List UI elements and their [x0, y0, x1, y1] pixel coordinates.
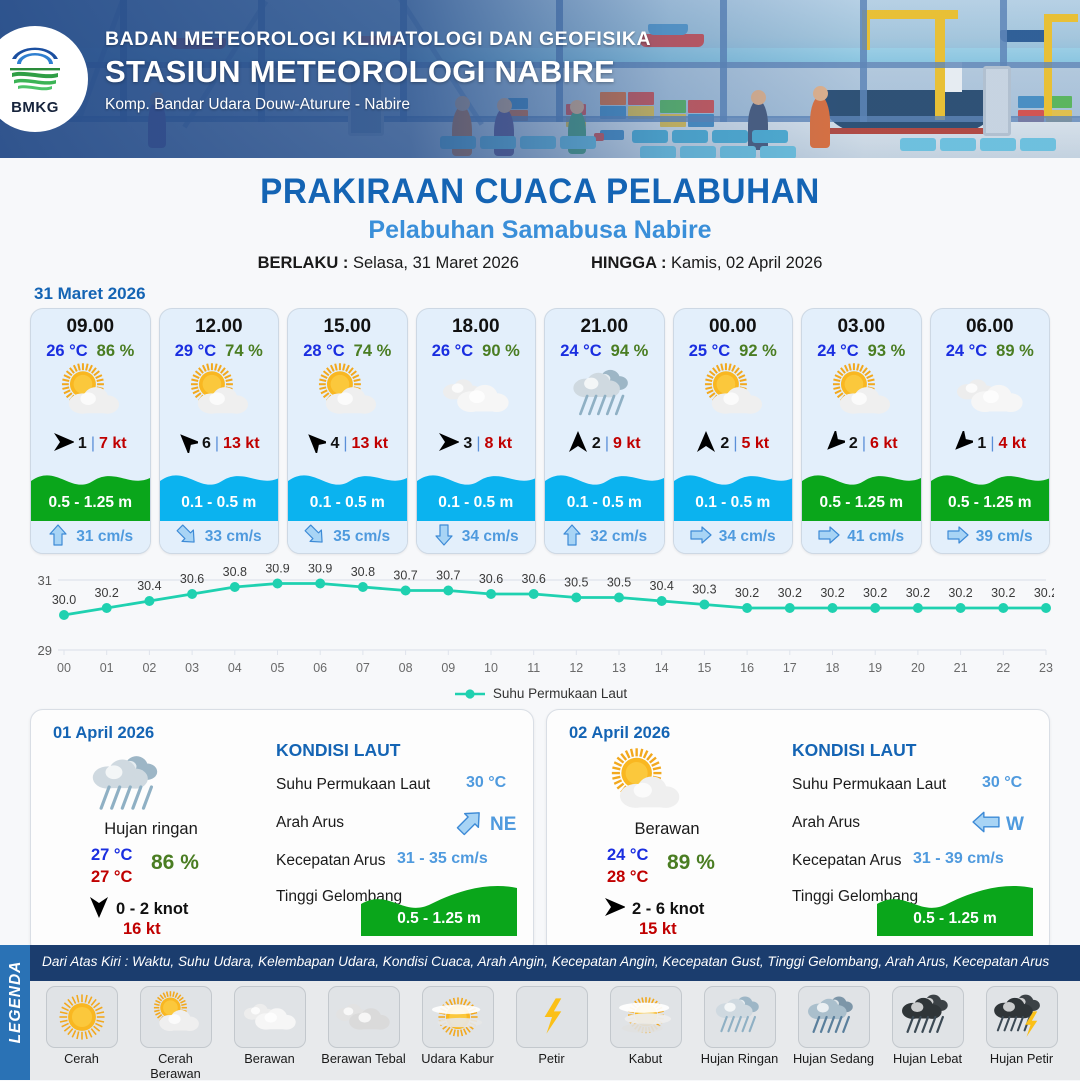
hourly-card: 09.00 26 °C 86 % 1 | 7 kt 0.5 - 1.25 m	[30, 308, 151, 554]
page-title: PRAKIRAAN CUACA PELABUHAN	[27, 172, 1053, 212]
hujan-ringan-icon	[545, 363, 664, 429]
legend-item-caption: Cerah Berawan	[132, 1051, 219, 1081]
daily-humidity: 86 %	[151, 851, 199, 875]
card-wind-speed: 1	[78, 435, 87, 453]
berawan-icon	[417, 363, 536, 429]
legend-item-caption: Udara Kabur	[414, 1051, 501, 1066]
berlaku-label: BERLAKU :	[258, 254, 349, 272]
card-gust-speed: 13 kt	[223, 435, 259, 453]
card-wind-separator: |	[215, 435, 219, 453]
card-temp-humidity: 29 °C 74 %	[160, 342, 279, 361]
card-current-row: 35 cm/s	[288, 521, 407, 553]
wind-direction-arrow-icon	[953, 431, 973, 458]
daily-wave-band: 0.5 - 1.25 m	[877, 878, 1033, 936]
daily-wave-height: 0.5 - 1.25 m	[361, 910, 517, 928]
svg-text:30.2: 30.2	[735, 586, 759, 600]
wind-direction-arrow-icon	[178, 431, 198, 458]
card-temperature: 24 °C	[560, 342, 601, 361]
card-current-row: 32 cm/s	[545, 521, 664, 553]
svg-text:30.2: 30.2	[991, 586, 1015, 600]
legend-item-caption: Hujan Petir	[978, 1051, 1065, 1066]
svg-text:04: 04	[228, 661, 242, 675]
sea-row-label: Arah Arus	[276, 814, 344, 832]
card-wind-row: 4 | 13 kt	[288, 429, 407, 459]
card-current-speed: 34 cm/s	[719, 528, 776, 546]
card-temperature: 25 °C	[689, 342, 730, 361]
hingga-label: HINGGA :	[591, 254, 666, 272]
current-direction-arrow-icon	[972, 808, 1000, 841]
card-temperature: 24 °C	[946, 342, 987, 361]
wind-direction-arrow-icon	[568, 431, 588, 458]
chart-legend: Suhu Permukaan Laut	[0, 686, 1080, 701]
station-name: STASIUN METEOROLOGI NABIRE	[105, 54, 651, 90]
berawan-tebal-icon	[328, 986, 400, 1048]
card-gust-speed: 7 kt	[99, 435, 127, 453]
svg-text:30.8: 30.8	[351, 565, 375, 579]
card-time: 09.00	[31, 309, 150, 338]
daily-wind-range: 2 - 6 knot	[632, 900, 704, 919]
daily-gust: 16 kt	[123, 920, 161, 939]
daily-date: 01 April 2026	[53, 724, 154, 743]
hujan-sedang-icon	[798, 986, 870, 1048]
svg-text:30.2: 30.2	[820, 586, 844, 600]
sea-surface-temp-value: 30 °C	[466, 774, 506, 792]
sea-row-label: Suhu Permukaan Laut	[276, 776, 430, 794]
card-wave-height: 0.1 - 0.5 m	[160, 494, 279, 512]
card-current-speed: 39 cm/s	[976, 528, 1033, 546]
cerah-berawan-icon	[31, 363, 150, 429]
svg-text:30.2: 30.2	[778, 586, 802, 600]
daily-wave-height: 0.5 - 1.25 m	[877, 910, 1033, 928]
card-wind-row: 2 | 5 kt	[674, 429, 793, 459]
svg-text:30.4: 30.4	[137, 579, 161, 593]
svg-text:15: 15	[697, 661, 711, 675]
legend-item-caption: Berawan Tebal	[320, 1051, 407, 1066]
card-time: 00.00	[674, 309, 793, 338]
current-direction-value: NE	[490, 814, 516, 836]
wind-direction-arrow-icon	[89, 896, 109, 923]
card-wind-speed: 3	[463, 435, 472, 453]
legend-side-bar: LEGENDA	[0, 945, 30, 1080]
udara-kabur-icon	[422, 986, 494, 1048]
legend-item: Hujan Sedang	[790, 986, 877, 1066]
berawan-icon	[234, 986, 306, 1048]
card-gust-speed: 4 kt	[998, 435, 1026, 453]
svg-text:21: 21	[954, 661, 968, 675]
daily-temp-min: 24 °C	[607, 846, 648, 865]
svg-text:30.5: 30.5	[607, 576, 631, 590]
svg-text:30.6: 30.6	[180, 572, 204, 586]
card-wave-band: 0.5 - 1.25 m	[931, 459, 1050, 521]
card-wave-height: 0.5 - 1.25 m	[802, 494, 921, 512]
daily-date: 02 April 2026	[569, 724, 670, 743]
card-temp-humidity: 26 °C 86 %	[31, 342, 150, 361]
card-wave-height: 0.1 - 0.5 m	[545, 494, 664, 512]
berlaku-group: BERLAKU : Selasa, 31 Maret 2026	[258, 254, 519, 273]
svg-text:30.2: 30.2	[1034, 586, 1054, 600]
daily-humidity: 89 %	[667, 851, 715, 875]
card-time: 03.00	[802, 309, 921, 338]
card-time: 12.00	[160, 309, 279, 338]
legend-item: Kabut	[602, 986, 689, 1066]
svg-text:30.2: 30.2	[95, 586, 119, 600]
page-header: BMKG BADAN METEOROLOGI KLIMATOLOGI DAN G…	[0, 0, 1080, 158]
card-humidity: 90 %	[482, 342, 520, 361]
svg-text:05: 05	[271, 661, 285, 675]
wind-direction-arrow-icon	[54, 431, 74, 458]
current-direction-arrow-icon	[456, 808, 484, 841]
sea-row-label: Arah Arus	[792, 814, 860, 832]
bmkg-logo-text: BMKG	[11, 99, 59, 116]
legend-section: LEGENDA Dari Atas Kiri : Waktu, Suhu Uda…	[0, 945, 1080, 1080]
legend-side-label: LEGENDA	[7, 952, 25, 1052]
card-gust-speed: 6 kt	[870, 435, 898, 453]
forecast-title-block: PRAKIRAAN CUACA PELABUHAN Pelabuhan Sama…	[0, 158, 1080, 273]
card-wave-height: 0.1 - 0.5 m	[674, 494, 793, 512]
card-wind-separator: |	[862, 435, 866, 453]
card-humidity: 74 %	[354, 342, 392, 361]
daily-forecast-card: 02 April 2026 Berawan 24 °C 28 °C 89 % 2…	[546, 709, 1050, 955]
daily-forecast-card: 01 April 2026 Hujan ringan 27 °C 27 °C 8…	[30, 709, 534, 955]
legend-item-caption: Cerah	[38, 1051, 125, 1066]
card-wind-separator: |	[476, 435, 480, 453]
card-time: 15.00	[288, 309, 407, 338]
sea-conditions-title: KONDISI LAUT	[276, 740, 400, 761]
sea-row-label: Kecepatan Arus	[792, 852, 901, 870]
svg-text:14: 14	[655, 661, 669, 675]
svg-text:11: 11	[527, 661, 540, 675]
card-wind-separator: |	[605, 435, 609, 453]
svg-text:30.7: 30.7	[436, 569, 460, 583]
page-subtitle: Pelabuhan Samabusa Nabire	[0, 216, 1080, 245]
svg-text:13: 13	[612, 661, 626, 675]
hourly-card: 18.00 26 °C 90 % 3 | 8 kt 0	[416, 308, 537, 554]
legend-item: Berawan	[226, 986, 313, 1066]
svg-text:30.9: 30.9	[265, 564, 289, 576]
card-wind-speed: 4	[330, 435, 339, 453]
legend-item: Cerah Berawan	[132, 986, 219, 1081]
card-humidity: 89 %	[996, 342, 1034, 361]
card-temp-humidity: 26 °C 90 %	[417, 342, 536, 361]
card-wind-row: 2 | 6 kt	[802, 429, 921, 459]
card-wave-band: 0.1 - 0.5 m	[545, 459, 664, 521]
svg-text:22: 22	[996, 661, 1010, 675]
svg-text:16: 16	[740, 661, 754, 675]
svg-text:30.4: 30.4	[650, 579, 674, 593]
current-direction-group: W	[972, 808, 1024, 841]
legend-note-bar: Dari Atas Kiri : Waktu, Suhu Udara, Kele…	[30, 945, 1080, 981]
svg-text:30.5: 30.5	[564, 576, 588, 590]
card-current-speed: 34 cm/s	[462, 528, 519, 546]
card-time: 06.00	[931, 309, 1050, 338]
card-temp-humidity: 24 °C 89 %	[931, 342, 1050, 361]
daily-condition: Berawan	[547, 820, 787, 839]
card-wave-band: 0.5 - 1.25 m	[802, 459, 921, 521]
hourly-card: 15.00 28 °C 74 % 4 | 13 kt 0.1 - 0.5 m	[287, 308, 408, 554]
card-temp-humidity: 25 °C 92 %	[674, 342, 793, 361]
svg-text:29: 29	[38, 643, 52, 658]
wind-direction-arrow-icon	[306, 431, 326, 458]
card-wind-row: 2 | 9 kt	[545, 429, 664, 459]
card-wave-band: 0.1 - 0.5 m	[160, 459, 279, 521]
card-wave-band: 0.1 - 0.5 m	[417, 459, 536, 521]
card-temperature: 26 °C	[432, 342, 473, 361]
kabut-icon	[610, 986, 682, 1048]
legend-note: Dari Atas Kiri : Waktu, Suhu Udara, Kele…	[30, 945, 1080, 969]
card-gust-speed: 8 kt	[484, 435, 512, 453]
hingga-group: HINGGA : Kamis, 02 April 2026	[591, 254, 822, 273]
card-temperature: 26 °C	[46, 342, 87, 361]
legend-item: Hujan Petir	[978, 986, 1065, 1066]
current-direction-arrow-icon	[176, 524, 198, 551]
daily-wind-row: 2 - 6 knot	[605, 896, 704, 923]
svg-text:01: 01	[100, 661, 114, 675]
card-wave-height: 0.5 - 1.25 m	[31, 494, 150, 512]
wind-direction-arrow-icon	[825, 431, 845, 458]
card-wave-band: 0.1 - 0.5 m	[674, 459, 793, 521]
hourly-forecast-row: 09.00 26 °C 86 % 1 | 7 kt 0.5 - 1.25 m	[0, 308, 1080, 554]
svg-text:20: 20	[911, 661, 925, 675]
agency-name: BADAN METEOROLOGI KLIMATOLOGI DAN GEOFIS…	[105, 28, 651, 51]
legend-item-caption: Berawan	[226, 1051, 313, 1066]
cerah-berawan-icon	[802, 363, 921, 429]
card-current-speed: 31 cm/s	[76, 528, 133, 546]
chart-legend-label: Suhu Permukaan Laut	[493, 686, 627, 701]
daily-gust: 15 kt	[639, 920, 677, 939]
card-wave-height: 0.5 - 1.25 m	[931, 494, 1050, 512]
card-wind-separator: |	[733, 435, 737, 453]
card-humidity: 92 %	[739, 342, 777, 361]
legend-item: Cerah	[38, 986, 125, 1066]
hourly-card: 00.00 25 °C 92 % 2 | 5 kt 0.1 - 0.5 m	[673, 308, 794, 554]
card-current-row: 34 cm/s	[674, 521, 793, 553]
card-wave-band: 0.5 - 1.25 m	[31, 459, 150, 521]
svg-text:30.2: 30.2	[948, 586, 972, 600]
station-address: Komp. Bandar Udara Douw-Aturure - Nabire	[105, 96, 651, 114]
svg-text:09: 09	[441, 661, 455, 675]
daily-wind-row: 0 - 2 knot	[89, 896, 188, 923]
card-wind-speed: 2	[720, 435, 729, 453]
legend-item-caption: Hujan Sedang	[790, 1051, 877, 1066]
legend-item: Berawan Tebal	[320, 986, 407, 1066]
svg-text:30.6: 30.6	[479, 572, 503, 586]
card-wind-separator: |	[343, 435, 347, 453]
hourly-card: 06.00 24 °C 89 % 1 | 4 kt 0	[930, 308, 1051, 554]
wind-direction-arrow-icon	[696, 431, 716, 458]
card-temp-humidity: 24 °C 93 %	[802, 342, 921, 361]
sea-row-label: Suhu Permukaan Laut	[792, 776, 946, 794]
card-gust-speed: 13 kt	[352, 435, 388, 453]
hujan-ringan-icon	[704, 986, 776, 1048]
current-direction-value: W	[1006, 814, 1024, 836]
card-current-speed: 35 cm/s	[333, 528, 390, 546]
card-humidity: 93 %	[868, 342, 906, 361]
svg-text:30.0: 30.0	[52, 593, 76, 607]
current-direction-arrow-icon	[818, 524, 840, 551]
cerah-berawan-icon	[599, 748, 691, 831]
svg-text:30.6: 30.6	[522, 572, 546, 586]
svg-text:19: 19	[868, 661, 882, 675]
daily-wave-band: 0.5 - 1.25 m	[361, 878, 517, 936]
chart-legend-marker	[453, 688, 487, 700]
card-temperature: 28 °C	[303, 342, 344, 361]
current-direction-arrow-icon	[947, 524, 969, 551]
current-direction-arrow-icon	[561, 524, 583, 551]
current-direction-arrow-icon	[690, 524, 712, 551]
card-wave-height: 0.1 - 0.5 m	[417, 494, 536, 512]
card-wind-row: 3 | 8 kt	[417, 429, 536, 459]
sea-conditions-title: KONDISI LAUT	[792, 740, 916, 761]
cerah-berawan-icon	[674, 363, 793, 429]
card-current-row: 34 cm/s	[417, 521, 536, 553]
hourly-card: 21.00 24 °C 94 % 2 | 9 kt 0	[544, 308, 665, 554]
cerah-berawan-icon	[160, 363, 279, 429]
card-temp-humidity: 28 °C 74 %	[288, 342, 407, 361]
hourly-card: 03.00 24 °C 93 % 2 | 6 kt 0.5 - 1.25 m	[801, 308, 922, 554]
card-wind-row: 1 | 7 kt	[31, 429, 150, 459]
card-gust-speed: 5 kt	[741, 435, 769, 453]
sea-row-label: Kecepatan Arus	[276, 852, 385, 870]
current-direction-arrow-icon	[433, 524, 455, 551]
legend-item-caption: Hujan Ringan	[696, 1051, 783, 1066]
svg-text:17: 17	[783, 661, 797, 675]
svg-text:08: 08	[399, 661, 413, 675]
card-wind-speed: 2	[592, 435, 601, 453]
card-current-speed: 32 cm/s	[590, 528, 647, 546]
cerah-berawan-icon	[140, 986, 212, 1048]
legend-item: Hujan Ringan	[696, 986, 783, 1066]
card-temperature: 29 °C	[175, 342, 216, 361]
card-wind-separator: |	[91, 435, 95, 453]
card-wind-speed: 2	[849, 435, 858, 453]
card-temp-humidity: 24 °C 94 %	[545, 342, 664, 361]
header-titles: BADAN METEOROLOGI KLIMATOLOGI DAN GEOFIS…	[105, 28, 651, 114]
hourly-card: 12.00 29 °C 74 % 6 | 13 kt 0.1 - 0.5 m	[159, 308, 280, 554]
card-wave-height: 0.1 - 0.5 m	[288, 494, 407, 512]
hujan-lebat-icon	[892, 986, 964, 1048]
hujan-petir-icon	[986, 986, 1058, 1048]
berawan-icon	[931, 363, 1050, 429]
svg-text:30.7: 30.7	[393, 569, 417, 583]
current-speed-value: 31 - 35 cm/s	[397, 850, 488, 868]
card-current-row: 41 cm/s	[802, 521, 921, 553]
card-time: 21.00	[545, 309, 664, 338]
current-speed-value: 31 - 39 cm/s	[913, 850, 1004, 868]
wind-direction-arrow-icon	[605, 896, 625, 923]
svg-text:30.9: 30.9	[308, 564, 332, 576]
legend-item-caption: Hujan Lebat	[884, 1051, 971, 1066]
card-current-row: 31 cm/s	[31, 521, 150, 553]
svg-text:30.2: 30.2	[906, 586, 930, 600]
legend-items-row: Cerah Cerah Berawan Berawan	[30, 981, 1080, 1080]
legend-item-caption: Petir	[508, 1051, 595, 1066]
daily-temp-min: 27 °C	[91, 846, 132, 865]
card-gust-speed: 9 kt	[613, 435, 641, 453]
card-humidity: 74 %	[225, 342, 263, 361]
cerah-icon	[46, 986, 118, 1048]
card-humidity: 86 %	[97, 342, 135, 361]
card-wave-band: 0.1 - 0.5 m	[288, 459, 407, 521]
card-wind-row: 6 | 13 kt	[160, 429, 279, 459]
wind-direction-arrow-icon	[439, 431, 459, 458]
svg-text:23: 23	[1039, 661, 1053, 675]
svg-text:30.8: 30.8	[223, 565, 247, 579]
card-time: 18.00	[417, 309, 536, 338]
validity-row: BERLAKU : Selasa, 31 Maret 2026 HINGGA :…	[0, 254, 1080, 273]
current-direction-group: NE	[456, 808, 516, 841]
legend-item: Udara Kabur	[414, 986, 501, 1066]
sea-surface-temp-value: 30 °C	[982, 774, 1022, 792]
svg-text:10: 10	[484, 661, 498, 675]
svg-text:18: 18	[826, 661, 840, 675]
card-current-row: 39 cm/s	[931, 521, 1050, 553]
hourly-day-label: 31 Maret 2026	[34, 284, 1080, 304]
berlaku-value: Selasa, 31 Maret 2026	[353, 254, 519, 272]
svg-text:00: 00	[57, 661, 71, 675]
legend-item: Petir	[508, 986, 595, 1066]
card-wind-separator: |	[990, 435, 994, 453]
hujan-ringan-icon	[83, 748, 175, 831]
svg-text:03: 03	[185, 661, 199, 675]
daily-forecast-row: 01 April 2026 Hujan ringan 27 °C 27 °C 8…	[0, 701, 1080, 955]
card-current-speed: 41 cm/s	[847, 528, 904, 546]
current-direction-arrow-icon	[47, 524, 69, 551]
card-wind-speed: 6	[202, 435, 211, 453]
daily-condition: Hujan ringan	[31, 820, 271, 839]
cerah-berawan-icon	[288, 363, 407, 429]
legend-item-caption: Kabut	[602, 1051, 689, 1066]
current-direction-arrow-icon	[304, 524, 326, 551]
card-wind-row: 1 | 4 kt	[931, 429, 1050, 459]
daily-temp-max: 27 °C	[91, 868, 132, 887]
card-humidity: 94 %	[611, 342, 649, 361]
svg-text:30.3: 30.3	[692, 583, 716, 597]
legend-item: Hujan Lebat	[884, 986, 971, 1066]
svg-text:06: 06	[313, 661, 327, 675]
svg-text:07: 07	[356, 661, 370, 675]
hingga-value: Kamis, 02 April 2026	[671, 254, 822, 272]
card-current-speed: 33 cm/s	[205, 528, 262, 546]
svg-text:31: 31	[38, 573, 52, 588]
daily-temp-max: 28 °C	[607, 868, 648, 887]
card-temperature: 24 °C	[817, 342, 858, 361]
svg-text:02: 02	[142, 661, 156, 675]
svg-text:30.2: 30.2	[863, 586, 887, 600]
daily-wind-range: 0 - 2 knot	[116, 900, 188, 919]
card-current-row: 33 cm/s	[160, 521, 279, 553]
petir-icon	[516, 986, 588, 1048]
svg-text:12: 12	[569, 661, 583, 675]
card-wind-speed: 1	[977, 435, 986, 453]
sst-chart: 293130.030.230.430.630.830.930.930.830.7…	[26, 564, 1054, 684]
